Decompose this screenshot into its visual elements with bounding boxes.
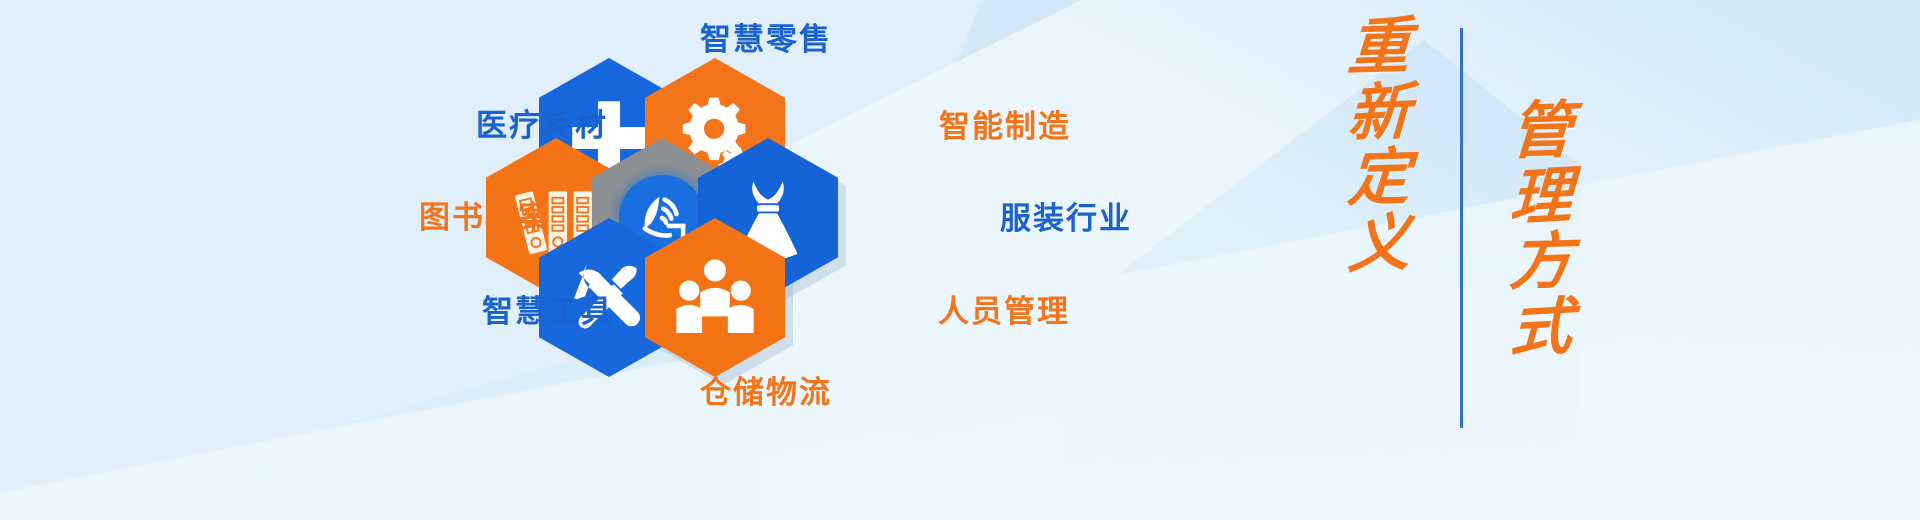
calligraphy-right-column: 管理方式 [1486, 98, 1596, 361]
calligraphy-left-column: 重新定义 [1324, 14, 1434, 277]
label-apparel: 服装行业 [1000, 193, 1132, 238]
calligraphy-char: 理 [1509, 162, 1574, 231]
calligraphy-char: 定 [1346, 145, 1412, 212]
people-group-icon [669, 252, 761, 344]
calligraphy-char: 管 [1508, 97, 1574, 164]
label-tools: 智慧工具 [482, 286, 614, 331]
label-manufacturing: 智能制造 [939, 101, 1071, 146]
label-medical: 医疗耗材 [476, 100, 608, 145]
label-books: 图书档案 [419, 192, 551, 237]
label-retail: 智慧零售 [700, 14, 832, 59]
label-warehouse: 仓储物流 [700, 367, 832, 412]
banner-canvas: 智慧零售 医疗耗材 智能制造 图书档案 服装行业 智慧工具 人员管理 仓储物流 … [0, 0, 1920, 520]
calligraphy-divider [1460, 28, 1463, 428]
calligraphy-char: 义 [1347, 210, 1412, 279]
calligraphy-char: 重 [1346, 13, 1412, 80]
background-wedge-overlay [0, 0, 1920, 520]
label-staff: 人员管理 [938, 286, 1070, 331]
calligraphy-char: 新 [1347, 78, 1412, 147]
calligraphy-char: 方 [1508, 229, 1574, 296]
calligraphy-block: 重新定义 管理方式 [1310, 10, 1610, 510]
calligraphy-char: 式 [1509, 294, 1574, 363]
background-layer [0, 0, 1920, 520]
